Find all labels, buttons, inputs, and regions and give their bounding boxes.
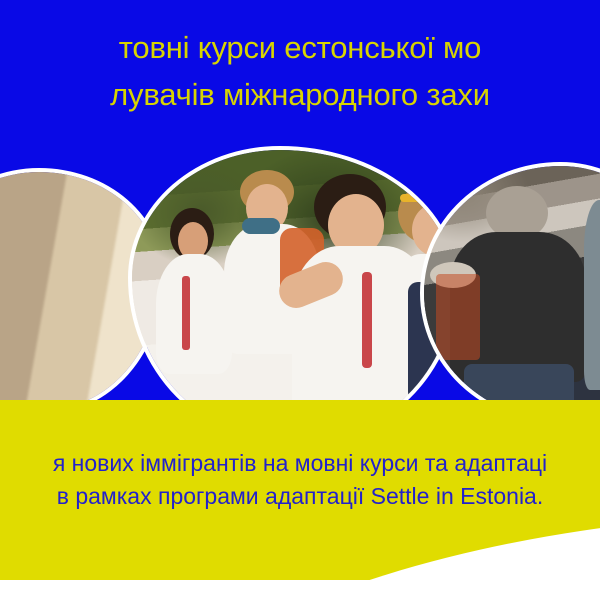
subheadline-line-1: я нових іммігрантів на мовні курси та ад… xyxy=(0,447,600,480)
headline-line-2: лувачів міжнародного захи xyxy=(0,71,600,118)
banner-root: товні курси естонської мо лувачів міжнар… xyxy=(0,0,600,600)
headline-line-1: товні курси естонської мо xyxy=(0,24,600,71)
page-title: товні курси естонської мо лувачів міжнар… xyxy=(0,24,600,118)
logo-strip: settle estonia Integration Foundation xyxy=(0,534,600,600)
photo-collage xyxy=(0,150,600,425)
subheadline-line-2: в рамках програми адаптації Settle in Es… xyxy=(0,480,600,513)
subheadline: я нових іммігрантів на мовні курси та ад… xyxy=(0,447,600,513)
photo-blob-crowd-backs xyxy=(420,162,600,424)
